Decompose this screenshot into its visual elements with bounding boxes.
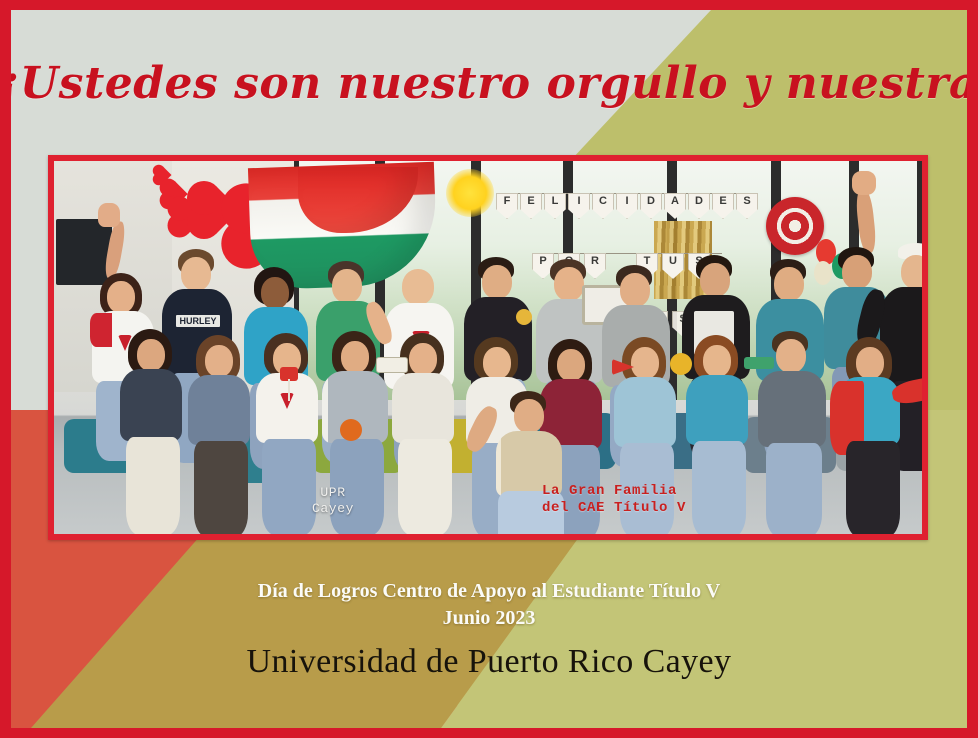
pennant-letter: A (664, 193, 686, 219)
photo-overlay-upr: UPR Cayey (312, 485, 354, 517)
pennant-letter: C (592, 193, 614, 219)
head (341, 341, 369, 373)
pennant-letter: E (520, 193, 542, 219)
torso-shirt (614, 377, 676, 447)
balloon-decoration (814, 261, 832, 285)
sun-decoration (446, 169, 494, 217)
head (402, 269, 434, 305)
pennant-letter: R (584, 253, 606, 279)
torso-shirt (120, 369, 182, 441)
head (482, 265, 512, 299)
fist (852, 171, 876, 195)
university-name: Universidad de Puerto Rico Cayey (0, 643, 978, 681)
torso-shirt (392, 373, 454, 443)
head (137, 339, 165, 371)
head (554, 267, 584, 301)
legs-pants (126, 437, 180, 534)
dartboard-decoration (766, 197, 824, 255)
pennant-letter: E (712, 193, 734, 219)
head (514, 399, 544, 433)
head (107, 281, 135, 313)
photo-prop (516, 309, 532, 325)
legs-jeans (262, 439, 316, 534)
head (776, 339, 806, 373)
legs-jeans (692, 441, 746, 534)
pennant-letter: I (568, 193, 590, 219)
photo-overlay-family: La Gran Familia del CAE Título V (542, 483, 686, 517)
torso-shirt (188, 375, 250, 445)
head (620, 273, 650, 307)
group-photo: F E L I C I D A D E S P O R T U S (54, 161, 922, 534)
caption-line-date: Junio 2023 (0, 605, 978, 632)
page-title: ¡Ustedes son nuestro orgullo y nuestra a… (11, 58, 967, 109)
pennant-letter: F (496, 193, 518, 219)
shirt-text: HURLEY (176, 315, 220, 327)
pennant-letter: I (616, 193, 638, 219)
tv-screen (56, 219, 112, 285)
caption-line-event: Día de Logros Centro de Apoyo al Estudia… (0, 578, 978, 605)
pennant-letter: U (662, 253, 684, 279)
group-photo-frame: F E L I C I D A D E S P O R T U S (48, 155, 928, 540)
banner-row-felicidades: F E L I C I D A D E S (496, 193, 758, 219)
head (483, 347, 511, 379)
pennant-letter: S (736, 193, 758, 219)
legs-pants (846, 441, 900, 534)
head (774, 267, 804, 301)
torso-shirt (686, 375, 748, 445)
head (901, 255, 922, 289)
head (557, 349, 585, 381)
head (700, 263, 730, 297)
shirt-sleeve (90, 313, 112, 347)
legs-skirt (194, 441, 248, 534)
legs-pants (398, 439, 452, 534)
head (205, 345, 233, 377)
pennant-letter: D (688, 193, 710, 219)
event-caption: Día de Logros Centro de Apoyo al Estudia… (0, 578, 978, 632)
poster: ¡Ustedes son nuestro orgullo y nuestra a… (0, 0, 978, 738)
prop-stick (288, 379, 290, 401)
head (856, 347, 884, 379)
legs-jeans (766, 443, 822, 534)
photo-prop-round (340, 419, 362, 441)
head (332, 269, 362, 303)
head (261, 277, 289, 309)
torso-shirt (758, 371, 826, 447)
hand (98, 203, 120, 227)
pennant-letter: D (640, 193, 662, 219)
head (181, 257, 211, 291)
head (703, 345, 731, 377)
head (409, 343, 437, 375)
head (631, 347, 659, 379)
photo-prop-bowtie (744, 357, 774, 369)
photo-prop-medal (670, 353, 692, 375)
head (842, 255, 872, 289)
pennant-letter: L (544, 193, 566, 219)
photo-prop-sign (376, 357, 408, 373)
